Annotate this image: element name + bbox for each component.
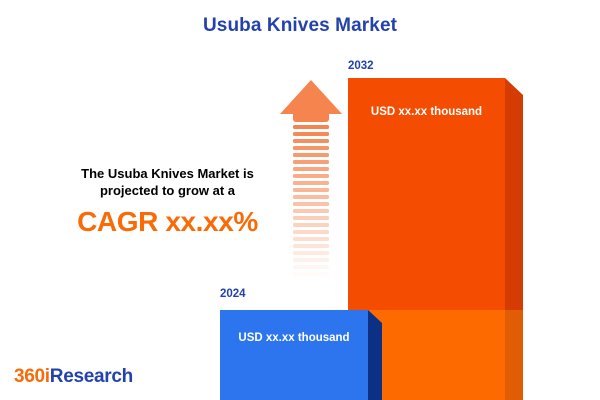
up-arrow-stripe — [293, 139, 329, 143]
up-arrow-stripe — [293, 265, 329, 269]
up-arrow-stripe — [293, 160, 329, 164]
bar-2032-value-label: USD xx.xx thousand — [348, 106, 505, 118]
up-arrow-stripe — [293, 230, 329, 234]
up-arrow-stripe — [293, 181, 329, 185]
bar-year-label-2032: 2032 — [348, 60, 374, 72]
up-arrow-stripe — [293, 209, 329, 213]
bar-2024-side-face — [368, 310, 382, 400]
cagr-callout-line-1: The Usuba Knives Market is — [60, 165, 275, 182]
up-arrow-stripe — [293, 216, 329, 220]
cagr-callout: The Usuba Knives Market is projected to … — [60, 165, 275, 238]
brand-logo[interactable]: 360iResearch — [14, 366, 133, 388]
up-arrow-stripe — [293, 244, 329, 248]
up-arrow-stripe — [293, 195, 329, 199]
up-arrow-stripe — [293, 132, 329, 136]
bar-2024[interactable]: USD xx.xx thousand — [220, 310, 382, 400]
up-arrow-stripe — [293, 202, 329, 206]
up-arrow-stripe — [293, 272, 329, 276]
up-arrow-icon — [280, 80, 342, 295]
up-arrow-stripe — [293, 174, 329, 178]
cagr-value: CAGR xx.xx% — [60, 206, 275, 238]
cagr-callout-line-2: projected to grow at a — [60, 182, 275, 199]
up-arrow-neck — [293, 112, 329, 122]
bar-2032-side-face-lower — [505, 310, 523, 400]
up-arrow-stripes — [293, 125, 329, 295]
up-arrow-stripe — [293, 223, 329, 227]
up-arrow-stripe — [293, 153, 329, 157]
brand-logo-mark: 360i — [14, 366, 50, 387]
up-arrow-stripe — [293, 258, 329, 262]
up-arrow-stripe — [293, 251, 329, 255]
up-arrow-stripe — [293, 237, 329, 241]
up-arrow-stripe — [293, 167, 329, 171]
bar-2024-front-face — [220, 310, 368, 400]
bar-year-label-2024: 2024 — [220, 288, 246, 300]
up-arrow-stripe — [293, 125, 329, 129]
up-arrow-head — [280, 80, 342, 114]
up-arrow-stripe — [293, 188, 329, 192]
market-infographic: Usuba Knives Market 2032 USD xx.xx thous… — [0, 0, 600, 400]
brand-logo-word: Research — [50, 366, 133, 387]
up-arrow-stripe — [293, 146, 329, 150]
bar-2024-value-label: USD xx.xx thousand — [220, 332, 368, 344]
